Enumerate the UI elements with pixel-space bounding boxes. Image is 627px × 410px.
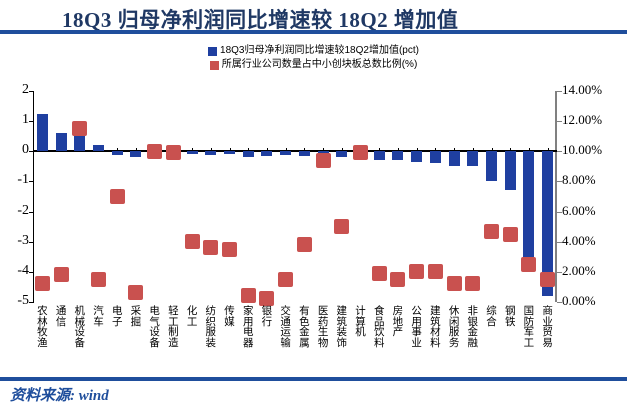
x-axis-label-建筑材料: 建筑材料 xyxy=(429,306,441,348)
x-axis-label-房地产: 房地产 xyxy=(392,306,404,338)
x-axis-label-轻工制造: 轻工制造 xyxy=(167,306,179,348)
x-axis-label-银行: 银行 xyxy=(261,306,273,327)
marker-计算机 xyxy=(353,145,368,160)
marker-房地产 xyxy=(390,272,405,287)
bar-建筑材料 xyxy=(430,151,441,163)
y-axis-left-line xyxy=(33,91,34,302)
legend-label-series-2: 所属行业公司数量占中小创块板总数比例(%) xyxy=(222,59,418,71)
marker-汽车 xyxy=(91,272,106,287)
marker-食品饮料 xyxy=(372,266,387,281)
y-axis-left-tick xyxy=(29,91,34,92)
chart-legend: 18Q3归母净利润同比增速较18Q2增加值(pct) 所属行业公司数量占中小创块… xyxy=(0,44,627,74)
title-divider xyxy=(0,30,627,34)
marker-交通运输 xyxy=(278,272,293,287)
y-axis-right-tick-label: 12.00% xyxy=(562,112,602,128)
x-axis-label-通信: 通信 xyxy=(55,306,67,327)
marker-农林牧渔 xyxy=(35,276,50,291)
y-axis-left-tick-label: 1 xyxy=(22,112,29,128)
x-axis-label-国防军工: 国防军工 xyxy=(523,306,535,348)
x-axis-label-电子: 电子 xyxy=(111,306,123,327)
bar-银行 xyxy=(261,151,272,156)
y-axis-left-labels: 210-1-2-3-4-5 xyxy=(0,91,29,302)
bar-化工 xyxy=(187,151,198,154)
y-axis-left-tick xyxy=(29,181,34,182)
y-axis-right-line xyxy=(555,91,557,302)
y-axis-right-tick xyxy=(557,212,562,213)
source-note: 资料来源: wind xyxy=(10,384,109,405)
bar-传媒 xyxy=(224,151,235,154)
bar-有色金属 xyxy=(299,151,310,156)
marker-建筑材料 xyxy=(428,264,443,279)
legend-item-series-1: 18Q3归母净利润同比增速较18Q2增加值(pct) xyxy=(208,44,419,58)
y-axis-left-tick-label: 0 xyxy=(22,142,29,158)
x-axis-label-公用事业: 公用事业 xyxy=(411,306,423,348)
x-axis-category-labels: 农林牧渔通信机械设备汽车电子采掘电气设备轻工制造化工纺织服装传媒家用电器银行交通… xyxy=(33,306,557,372)
bar-机械设备 xyxy=(74,136,85,151)
y-axis-left-tick-label: 2 xyxy=(22,82,29,98)
x-axis-label-化工: 化工 xyxy=(186,306,198,327)
marker-医药生物 xyxy=(316,153,331,168)
bar-农林牧渔 xyxy=(37,114,48,152)
x-axis-label-钢铁: 钢铁 xyxy=(504,306,516,327)
marker-休闲服务 xyxy=(447,276,462,291)
marker-轻工制造 xyxy=(166,145,181,160)
x-axis-label-商业贸易: 商业贸易 xyxy=(542,306,554,348)
x-axis-label-食品饮料: 食品饮料 xyxy=(373,306,385,348)
y-axis-left-tick xyxy=(29,121,34,122)
marker-商业贸易 xyxy=(540,272,555,287)
x-axis-label-传媒: 传媒 xyxy=(224,306,236,327)
bar-纺织服装 xyxy=(205,151,216,155)
y-axis-right-tick xyxy=(557,121,562,122)
marker-家用电器 xyxy=(241,288,256,303)
legend-item-series-2: 所属行业公司数量占中小创块板总数比例(%) xyxy=(210,58,418,72)
y-axis-left-tick-label: -5 xyxy=(17,293,29,309)
marker-综合 xyxy=(484,224,499,239)
y-axis-left-tick xyxy=(29,272,34,273)
y-axis-right-tick-label: 8.00% xyxy=(562,172,596,188)
marker-传媒 xyxy=(222,242,237,257)
x-axis-label-农林牧渔: 农林牧渔 xyxy=(36,306,48,348)
title-bar: 18Q3 归母净利润同比增速较 18Q2 增加值 xyxy=(0,0,627,36)
x-axis-label-计算机: 计算机 xyxy=(355,306,367,338)
marker-钢铁 xyxy=(503,227,518,242)
marker-通信 xyxy=(54,267,69,282)
footer-divider xyxy=(0,377,627,381)
legend-swatch-icon xyxy=(210,61,219,70)
y-axis-left-tick-label: -2 xyxy=(17,203,29,219)
marker-建筑装饰 xyxy=(334,219,349,234)
y-axis-left-tick xyxy=(29,242,34,243)
y-axis-right-tick xyxy=(557,302,562,303)
bar-交通运输 xyxy=(280,151,291,155)
bar-电子 xyxy=(112,151,123,155)
bar-公用事业 xyxy=(411,151,422,162)
bar-综合 xyxy=(486,151,497,181)
y-axis-right-tick xyxy=(557,91,562,92)
marker-有色金属 xyxy=(297,237,312,252)
y-axis-right-tick-label: 10.00% xyxy=(562,142,602,158)
x-axis-label-交通运输: 交通运输 xyxy=(280,306,292,348)
x-axis-label-建筑装饰: 建筑装饰 xyxy=(336,306,348,348)
y-axis-right-tick xyxy=(557,181,562,182)
bar-房地产 xyxy=(392,151,403,160)
y-axis-right-tick-label: 4.00% xyxy=(562,233,596,249)
x-axis-label-家用电器: 家用电器 xyxy=(242,306,254,348)
legend-label-series-1: 18Q3归母净利润同比增速较18Q2增加值(pct) xyxy=(220,45,419,57)
y-axis-right-labels: 14.00%12.00%10.00%8.00%6.00%4.00%2.00%0.… xyxy=(562,91,627,302)
marker-采掘 xyxy=(128,285,143,300)
y-axis-left-tick-label: -1 xyxy=(17,172,29,188)
x-axis-label-机械设备: 机械设备 xyxy=(74,306,86,348)
y-axis-right-tick xyxy=(557,151,562,152)
bar-非银金融 xyxy=(467,151,478,166)
y-axis-left-tick xyxy=(29,151,34,152)
bar-建筑装饰 xyxy=(336,151,347,157)
y-axis-left-tick xyxy=(29,302,34,303)
x-axis-label-休闲服务: 休闲服务 xyxy=(448,306,460,348)
y-axis-left-tick-label: -3 xyxy=(17,233,29,249)
plot-area xyxy=(33,91,557,302)
x-axis-label-汽车: 汽车 xyxy=(93,306,105,327)
marker-非银金融 xyxy=(465,276,480,291)
marker-机械设备 xyxy=(72,121,87,136)
y-axis-right-tick xyxy=(557,242,562,243)
bar-汽车 xyxy=(93,145,104,151)
bar-采掘 xyxy=(130,151,141,157)
x-axis-label-采掘: 采掘 xyxy=(130,306,142,327)
x-axis-label-非银金融: 非银金融 xyxy=(467,306,479,348)
bar-家用电器 xyxy=(243,151,254,156)
marker-国防军工 xyxy=(521,257,536,272)
legend-swatch-icon xyxy=(208,47,217,56)
marker-公用事业 xyxy=(409,264,424,279)
y-axis-right-tick xyxy=(557,272,562,273)
marker-电气设备 xyxy=(147,144,162,159)
marker-化工 xyxy=(185,234,200,249)
y-axis-right-tick-label: 0.00% xyxy=(562,293,596,309)
bar-钢铁 xyxy=(505,151,516,190)
bar-休闲服务 xyxy=(449,151,460,166)
y-axis-left-tick xyxy=(29,212,34,213)
x-axis-label-综合: 综合 xyxy=(486,306,498,327)
bar-食品饮料 xyxy=(374,151,385,160)
bar-国防军工 xyxy=(523,151,534,266)
chart-page: 18Q3 归母净利润同比增速较 18Q2 增加值 18Q3归母净利润同比增速较1… xyxy=(0,0,627,410)
x-axis-label-有色金属: 有色金属 xyxy=(298,306,310,348)
marker-纺织服装 xyxy=(203,240,218,255)
x-axis-label-纺织服装: 纺织服装 xyxy=(205,306,217,348)
bar-通信 xyxy=(56,133,67,151)
x-axis-label-电气设备: 电气设备 xyxy=(149,306,161,348)
marker-电子 xyxy=(110,189,125,204)
y-axis-right-tick-label: 2.00% xyxy=(562,263,596,279)
y-axis-right-tick-label: 14.00% xyxy=(562,82,602,98)
y-axis-right-tick-label: 6.00% xyxy=(562,203,596,219)
y-axis-left-tick-label: -4 xyxy=(17,263,29,279)
x-axis-label-医药生物: 医药生物 xyxy=(317,306,329,348)
